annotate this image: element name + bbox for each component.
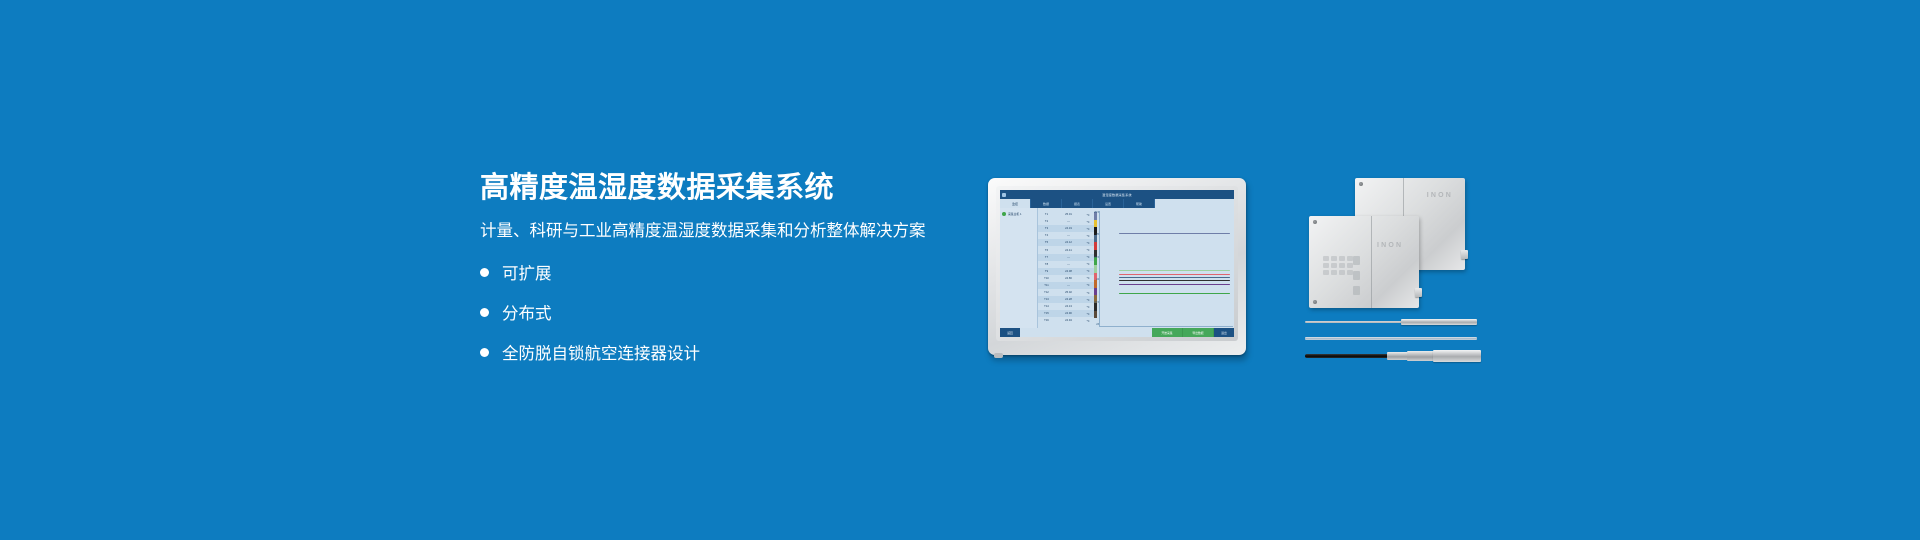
screw-icon bbox=[1313, 300, 1317, 304]
enclosure-seam bbox=[1371, 216, 1372, 308]
chart-series-line bbox=[1119, 280, 1231, 281]
flexible-sensor-cable bbox=[1305, 335, 1477, 341]
probe-tip bbox=[1401, 319, 1477, 325]
cell-channel: T16 bbox=[1038, 319, 1055, 322]
hero-copy-block: 高精度温湿度数据采集系统 计量、科研与工业高精度温湿度数据采集和分析整体解决方案… bbox=[480, 172, 1000, 380]
cell-channel: T12 bbox=[1038, 291, 1055, 294]
table-row[interactable]: T2 --- ℃ bbox=[1038, 218, 1094, 225]
cell-channel: T5 bbox=[1038, 241, 1055, 244]
table-row[interactable]: T4 --- ℃ bbox=[1038, 232, 1094, 239]
device-group: INON INON bbox=[1303, 178, 1483, 363]
table-row[interactable]: T9 24.38 ℃ bbox=[1038, 268, 1094, 275]
table-row[interactable]: T10 24.86 ℃ bbox=[1038, 275, 1094, 282]
list-item: 分布式 bbox=[480, 300, 1000, 324]
chart-series-line bbox=[1119, 274, 1231, 275]
port-slot bbox=[1353, 256, 1360, 265]
terminal-block-array bbox=[1323, 256, 1353, 275]
screw-icon bbox=[1359, 182, 1363, 186]
chart-y-axis: 25.52524.52423.523 bbox=[1089, 211, 1099, 326]
table-row[interactable]: T1 25.01 ℃ bbox=[1038, 211, 1094, 218]
cell-value: 25.01 bbox=[1055, 213, 1082, 216]
bullet-dot-icon bbox=[480, 308, 489, 317]
cable-gland-connector bbox=[1415, 288, 1422, 297]
monitor-screen: 温湿度数据采集系统 监控 数据 报表 设置 帮助 bbox=[1000, 190, 1234, 337]
tab-monitor[interactable]: 监控 bbox=[1000, 199, 1031, 208]
cell-value: 24.38 bbox=[1055, 270, 1082, 273]
device-tree-panel: 采集主机 1 bbox=[1000, 208, 1038, 328]
cell-value: 24.13 bbox=[1055, 305, 1082, 308]
cell-value: 25.02 bbox=[1055, 291, 1082, 294]
tree-item-label: 采集主机 1 bbox=[1008, 212, 1022, 216]
tab-help[interactable]: 帮助 bbox=[1124, 199, 1155, 208]
y-axis-tick-label: 23.5 bbox=[1094, 301, 1099, 304]
cell-value: 24.94 bbox=[1055, 319, 1082, 322]
cell-channel: T4 bbox=[1038, 234, 1055, 237]
table-row[interactable]: T14 24.13 ℃ bbox=[1038, 303, 1094, 310]
cell-channel: T2 bbox=[1038, 220, 1055, 223]
cell-value: 24.41 bbox=[1055, 249, 1082, 252]
strain-relief bbox=[1387, 352, 1409, 360]
cell-value: 24.90 bbox=[1055, 312, 1082, 315]
cell-channel: T9 bbox=[1038, 270, 1055, 273]
probe-tip bbox=[1433, 350, 1481, 362]
cell-channel: T8 bbox=[1038, 263, 1055, 266]
cell-value: --- bbox=[1055, 263, 1082, 266]
y-axis-tick-label: 23 bbox=[1096, 323, 1099, 326]
cell-channel: T3 bbox=[1038, 227, 1055, 230]
table-row[interactable]: T12 25.02 ℃ bbox=[1038, 289, 1094, 296]
cell-channel: T15 bbox=[1038, 312, 1055, 315]
cable-gland-connector bbox=[1461, 250, 1468, 259]
monitor-inner-bezel: 温湿度数据采集系统 监控 数据 报表 设置 帮助 bbox=[996, 186, 1238, 341]
app-titlebar: 温湿度数据采集系统 bbox=[1000, 190, 1234, 199]
page-title: 高精度温湿度数据采集系统 bbox=[480, 172, 1000, 205]
port-slot bbox=[1353, 271, 1360, 280]
bullet-dot-icon bbox=[480, 268, 489, 277]
table-row[interactable]: T6 24.41 ℃ bbox=[1038, 246, 1094, 253]
cell-value: --- bbox=[1055, 234, 1082, 237]
table-row[interactable]: T13 24.28 ℃ bbox=[1038, 296, 1094, 303]
tab-data[interactable]: 数据 bbox=[1031, 199, 1062, 208]
terminal-key bbox=[1323, 256, 1329, 261]
status-indicator-icon bbox=[1002, 212, 1006, 216]
tab-settings[interactable]: 设置 bbox=[1093, 199, 1124, 208]
monitor-bezel: 温湿度数据采集系统 监控 数据 报表 设置 帮助 bbox=[988, 178, 1246, 355]
exit-button[interactable]: 退出 bbox=[1214, 328, 1234, 337]
cell-value: --- bbox=[1055, 256, 1082, 259]
y-axis-tick-label: 25.5 bbox=[1094, 211, 1099, 214]
bullet-dot-icon bbox=[480, 348, 489, 357]
feature-label: 可扩展 bbox=[502, 260, 552, 284]
cell-value: 24.19 bbox=[1055, 227, 1082, 230]
back-button[interactable]: 返回 bbox=[1000, 328, 1020, 337]
tab-report[interactable]: 报表 bbox=[1062, 199, 1093, 208]
cell-channel: T7 bbox=[1038, 256, 1055, 259]
table-row[interactable]: T7 --- ℃ bbox=[1038, 254, 1094, 261]
chart-series-line bbox=[1119, 293, 1231, 294]
chart-series-line bbox=[1119, 277, 1231, 278]
cell-channel: T10 bbox=[1038, 277, 1055, 280]
terminal-key bbox=[1331, 263, 1337, 268]
cell-value: 24.28 bbox=[1055, 298, 1082, 301]
cell-value: 24.86 bbox=[1055, 277, 1082, 280]
cell-value: --- bbox=[1055, 284, 1082, 287]
table-row[interactable]: T11 --- ℃ bbox=[1038, 282, 1094, 289]
probe-cable bbox=[1305, 321, 1403, 323]
terminal-key bbox=[1339, 263, 1345, 268]
chart-series-line bbox=[1119, 233, 1231, 234]
cell-channel: T11 bbox=[1038, 284, 1055, 287]
probe-cable bbox=[1305, 337, 1477, 340]
cell-channel: T13 bbox=[1038, 298, 1055, 301]
y-axis-tick-label: 24.5 bbox=[1094, 256, 1099, 259]
terminal-key bbox=[1339, 256, 1345, 261]
list-item: 全防脱自锁航空连接器设计 bbox=[480, 340, 1000, 364]
feature-list: 可扩展 分布式 全防脱自锁航空连接器设计 bbox=[480, 260, 1000, 364]
list-item: 可扩展 bbox=[480, 260, 1000, 284]
cell-channel: T14 bbox=[1038, 305, 1055, 308]
channel-table: T1 25.01 ℃ T2 --- ℃ T3 24.19 bbox=[1038, 208, 1094, 328]
feature-label: 全防脱自锁航空连接器设计 bbox=[502, 340, 700, 364]
port-bank bbox=[1353, 256, 1360, 295]
trend-chart: 25.52524.52423.523 bbox=[1099, 211, 1233, 327]
chart-series-line bbox=[1119, 270, 1231, 271]
screw-icon bbox=[1313, 220, 1317, 224]
table-row[interactable]: T15 24.90 ℃ bbox=[1038, 310, 1094, 317]
chart-series-line bbox=[1119, 284, 1231, 285]
panel-pc-monitor: 温湿度数据采集系统 监控 数据 报表 设置 帮助 bbox=[988, 178, 1250, 361]
toolbar-spacer bbox=[1020, 328, 1152, 337]
monitor-stand-foot bbox=[994, 353, 1003, 358]
port-slot bbox=[1353, 286, 1360, 295]
table-row[interactable]: T3 24.19 ℃ bbox=[1038, 225, 1094, 232]
product-hero-banner: 高精度温湿度数据采集系统 计量、科研与工业高精度温湿度数据采集和分析整体解决方案… bbox=[0, 0, 1920, 540]
app-tab-strip: 监控 数据 报表 设置 帮助 bbox=[1000, 199, 1234, 208]
table-row[interactable]: T16 24.94 ℃ bbox=[1038, 317, 1094, 324]
tab-strip-filler bbox=[1155, 199, 1234, 208]
cell-channel: T6 bbox=[1038, 249, 1055, 252]
aviation-connector bbox=[1407, 351, 1435, 361]
brand-logo: INON bbox=[1377, 242, 1403, 249]
hero-subtitle: 计量、科研与工业高精度温湿度数据采集和分析整体解决方案 bbox=[480, 222, 1000, 242]
terminal-key bbox=[1331, 270, 1337, 275]
y-axis-tick-label: 25 bbox=[1096, 233, 1099, 236]
start-acquisition-button[interactable]: 开始采集 bbox=[1152, 328, 1183, 337]
terminal-key bbox=[1323, 263, 1329, 268]
app-bottom-toolbar: 返回 开始采集 导出数据 退出 bbox=[1000, 328, 1234, 337]
acquisition-enclosure-front: INON bbox=[1309, 216, 1419, 308]
probe-cable bbox=[1305, 354, 1389, 358]
y-axis-tick-label: 24 bbox=[1096, 278, 1099, 281]
app-title: 温湿度数据采集系统 bbox=[1000, 192, 1234, 197]
table-row[interactable]: T5 24.12 ℃ bbox=[1038, 239, 1094, 246]
cell-value: --- bbox=[1055, 220, 1082, 223]
app-body: 采集主机 1 T1 25.01 ℃ T2 bbox=[1000, 208, 1234, 328]
cell-value: 24.12 bbox=[1055, 241, 1082, 244]
terminal-key bbox=[1339, 270, 1345, 275]
aviation-connector-probe bbox=[1305, 350, 1481, 362]
tree-item-host[interactable]: 采集主机 1 bbox=[1000, 212, 1037, 216]
platinum-resistance-probe bbox=[1305, 318, 1477, 326]
table-row[interactable]: T8 --- ℃ bbox=[1038, 261, 1094, 268]
terminal-key bbox=[1323, 270, 1329, 275]
cell-channel: T1 bbox=[1038, 213, 1055, 216]
feature-label: 分布式 bbox=[502, 300, 552, 324]
brand-logo: INON bbox=[1427, 192, 1453, 199]
export-data-button[interactable]: 导出数据 bbox=[1183, 328, 1214, 337]
terminal-key bbox=[1331, 256, 1337, 261]
